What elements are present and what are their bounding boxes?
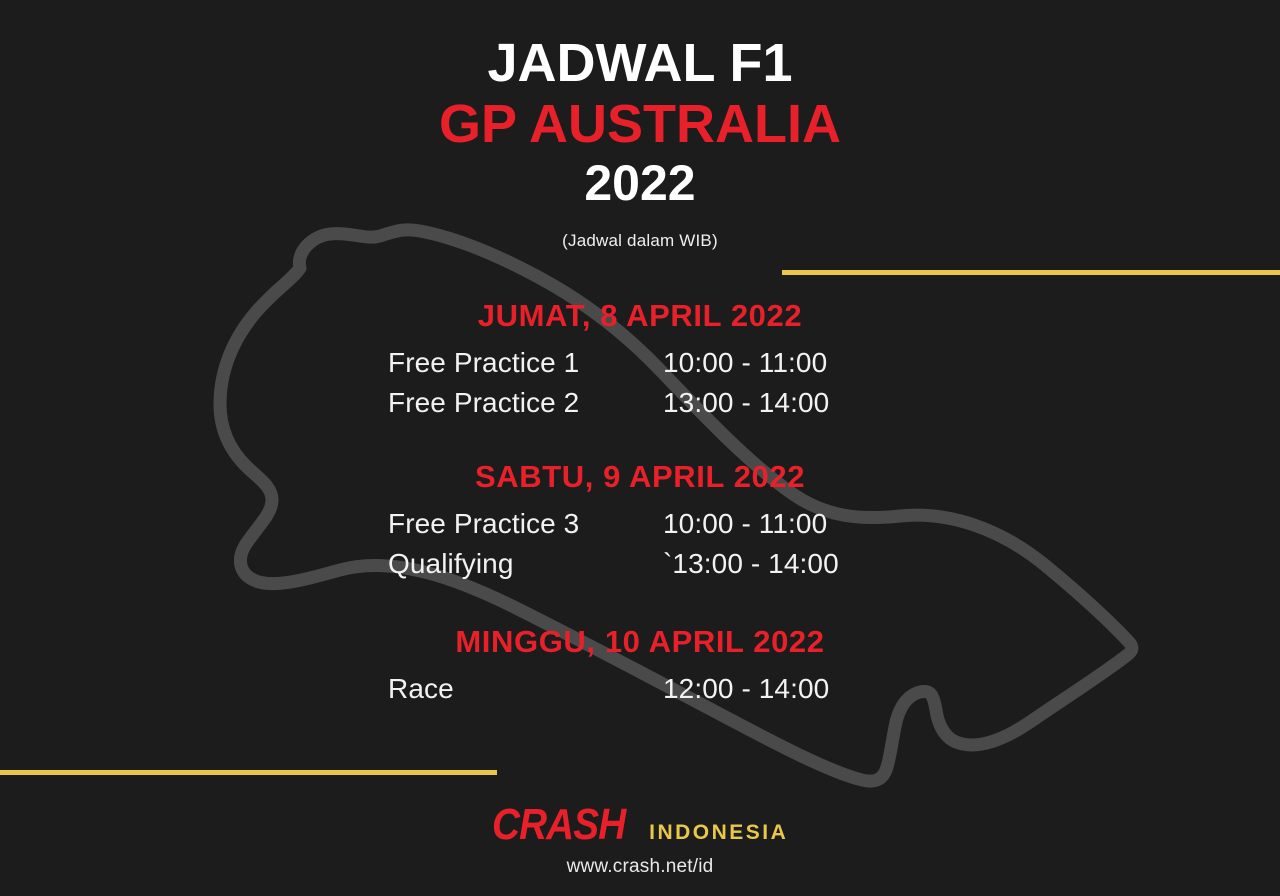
title-block: JADWAL F1 GP AUSTRALIA 2022 (Jadwal dala… <box>0 36 1280 251</box>
schedule-row: Free Practice 3 10:00 - 11:00 <box>388 510 908 538</box>
title-gp-australia: GP AUSTRALIA <box>0 97 1280 152</box>
footer: CRASH INDONESIA www.crash.net/id <box>0 800 1280 878</box>
event-label: Qualifying <box>388 550 663 578</box>
event-time: `13:00 - 14:00 <box>663 550 839 578</box>
title-year: 2022 <box>0 158 1280 209</box>
day-rows-sunday: Race 12:00 - 14:00 <box>388 675 908 703</box>
event-time: 13:00 - 14:00 <box>663 389 829 417</box>
timezone-note: (Jadwal dalam WIB) <box>0 231 1280 251</box>
day-rows-saturday: Free Practice 3 10:00 - 11:00 Qualifying… <box>388 510 908 578</box>
day-rows-friday: Free Practice 1 10:00 - 11:00 Free Pract… <box>388 349 908 417</box>
crash-indonesia-logo: CRASH INDONESIA <box>492 800 789 850</box>
event-time: 12:00 - 14:00 <box>663 675 829 703</box>
schedule-row: Free Practice 2 13:00 - 14:00 <box>388 389 908 417</box>
day-group-friday: JUMAT, 8 APRIL 2022 Free Practice 1 10:0… <box>0 300 1280 417</box>
event-time: 10:00 - 11:00 <box>663 349 827 377</box>
footer-url: www.crash.net/id <box>0 856 1280 878</box>
event-time: 10:00 - 11:00 <box>663 510 827 538</box>
event-label: Free Practice 1 <box>388 349 663 377</box>
poster-root: JADWAL F1 GP AUSTRALIA 2022 (Jadwal dala… <box>0 0 1280 896</box>
day-group-saturday: SABTU, 9 APRIL 2022 Free Practice 3 10:0… <box>0 461 1280 578</box>
event-label: Race <box>388 675 663 703</box>
day-group-sunday: MINGGU, 10 APRIL 2022 Race 12:00 - 14:00 <box>0 626 1280 703</box>
day-heading-saturday: SABTU, 9 APRIL 2022 <box>0 461 1280 492</box>
logo-indonesia-wordmark: INDONESIA <box>649 821 788 845</box>
day-heading-sunday: MINGGU, 10 APRIL 2022 <box>0 626 1280 657</box>
title-jadwal-f1: JADWAL F1 <box>0 36 1280 91</box>
event-label: Free Practice 2 <box>388 389 663 417</box>
day-heading-friday: JUMAT, 8 APRIL 2022 <box>0 300 1280 331</box>
schedule-row: Free Practice 1 10:00 - 11:00 <box>388 349 908 377</box>
logo-crash-wordmark: CRASH <box>492 800 625 850</box>
content-layer: JADWAL F1 GP AUSTRALIA 2022 (Jadwal dala… <box>0 0 1280 896</box>
event-label: Free Practice 3 <box>388 510 663 538</box>
schedule-list: JUMAT, 8 APRIL 2022 Free Practice 1 10:0… <box>0 300 1280 715</box>
schedule-row: Race 12:00 - 14:00 <box>388 675 908 703</box>
schedule-row: Qualifying `13:00 - 14:00 <box>388 550 908 578</box>
